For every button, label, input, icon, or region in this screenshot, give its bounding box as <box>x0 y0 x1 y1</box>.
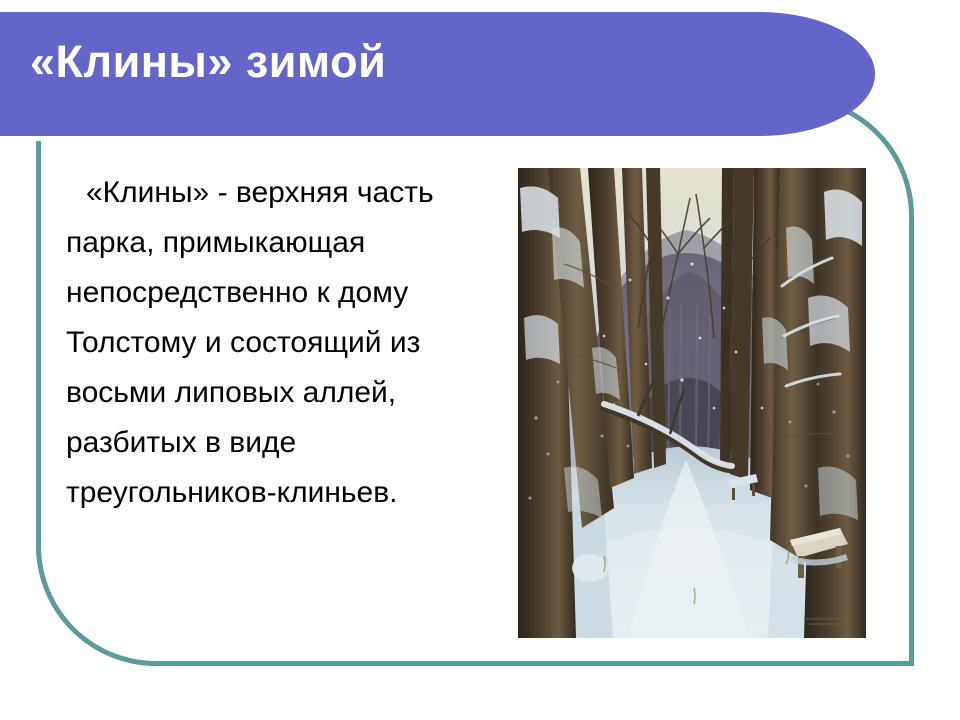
page-title: «Клины» зимой <box>30 36 386 88</box>
painting-artwork <box>518 168 866 638</box>
title-divider-rule <box>0 136 815 141</box>
frame-border-bottom <box>150 661 914 666</box>
winter-park-alley-painting <box>518 168 866 638</box>
body-paragraph: «Клины» - верхняя часть парка, примыкающ… <box>66 168 466 518</box>
slide: «Клины» зимой «Клины» - верхняя часть па… <box>0 0 960 720</box>
